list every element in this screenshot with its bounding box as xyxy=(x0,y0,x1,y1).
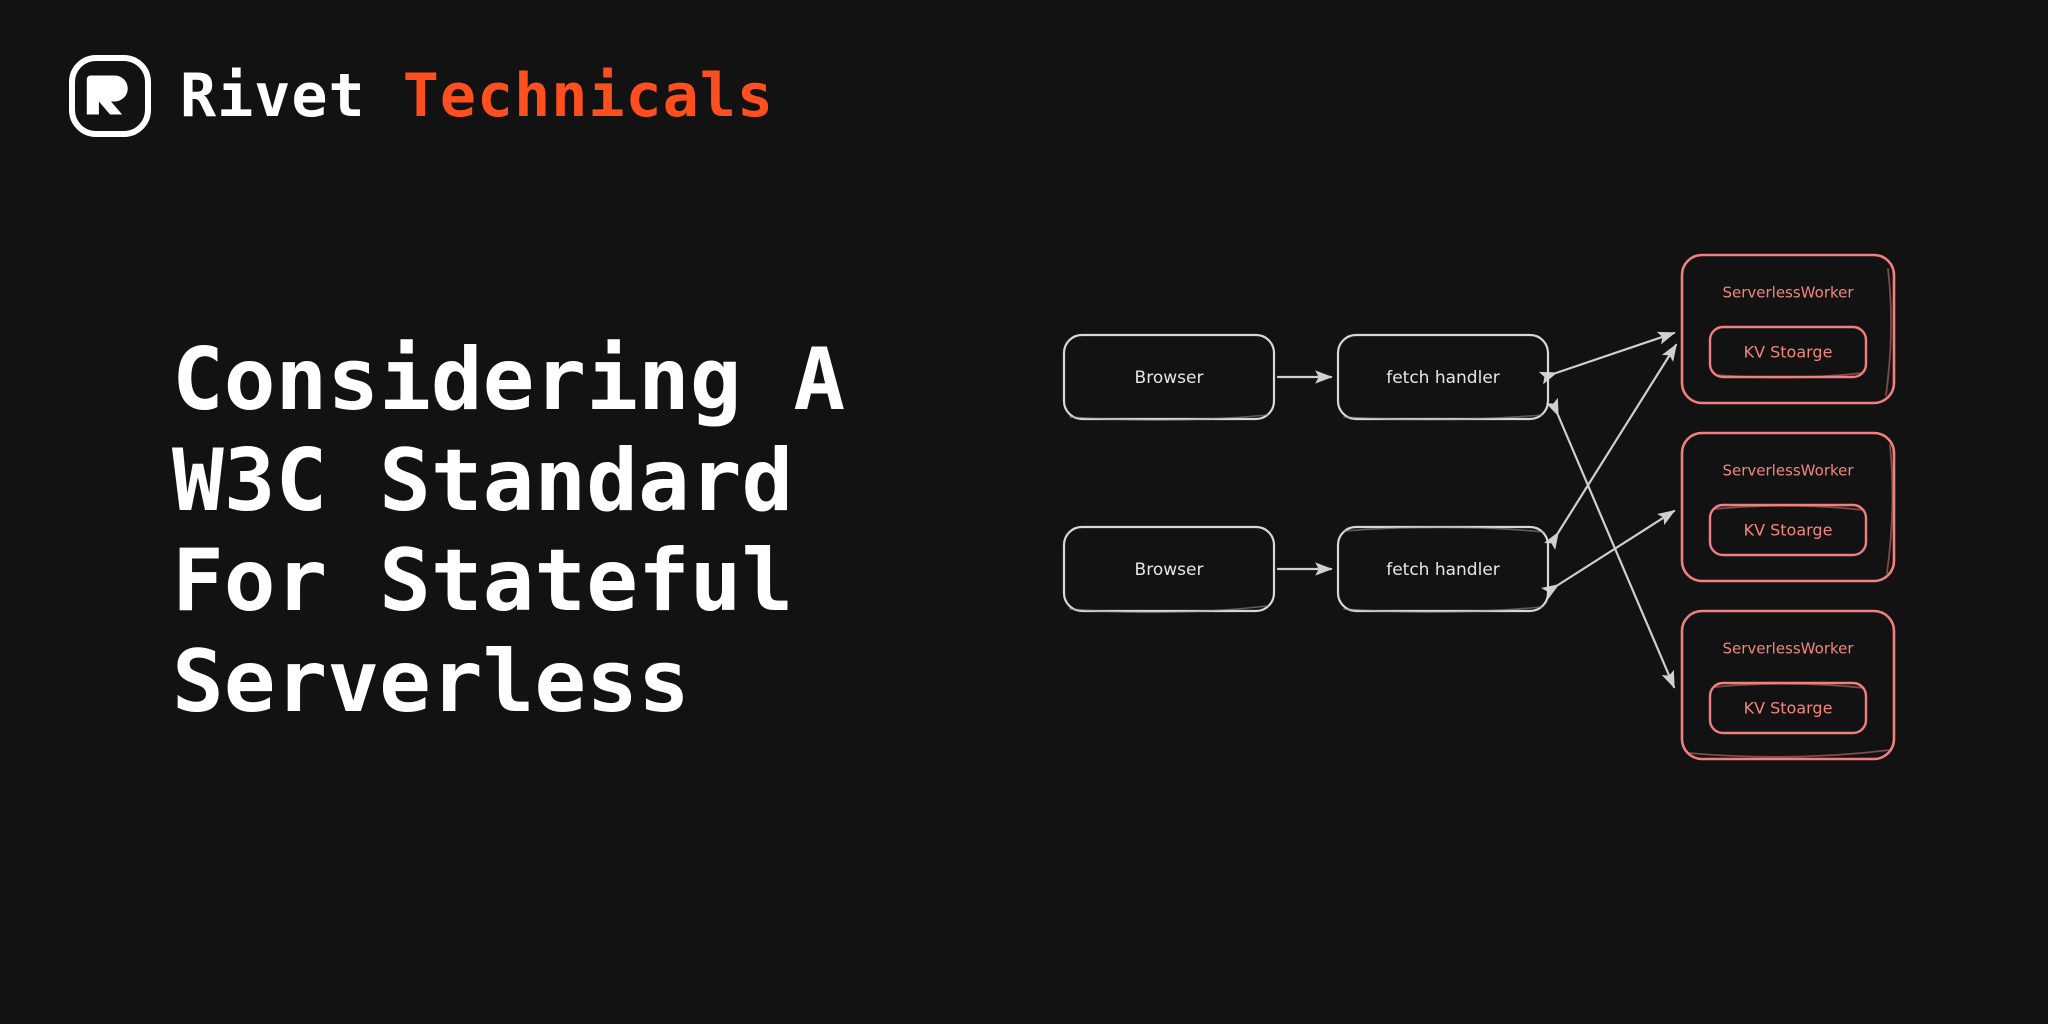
edge-fetch1-to-worker3 xyxy=(1558,415,1674,687)
brand-separator xyxy=(366,66,403,126)
node-worker-2[interactable]: ServerlessWorker KV Stoarge xyxy=(1682,433,1894,581)
node-worker-2-label: ServerlessWorker xyxy=(1722,462,1854,480)
node-fetch-handler-2[interactable]: fetch handler xyxy=(1338,527,1548,612)
node-worker-1[interactable]: ServerlessWorker KV Stoarge xyxy=(1682,255,1894,403)
node-worker-3[interactable]: ServerlessWorker KV Stoarge xyxy=(1682,611,1894,759)
node-browser-1[interactable]: Browser xyxy=(1064,335,1274,420)
headline-line-2: W3C Standard xyxy=(172,431,1092,532)
edge-fetch2-to-worker2 xyxy=(1558,511,1674,585)
brand-header: Rivet Technicals xyxy=(68,52,774,140)
node-worker-2-kv[interactable]: KV Stoarge xyxy=(1710,505,1866,555)
node-worker-3-kv-label: KV Stoarge xyxy=(1744,699,1833,718)
node-fetch-handler-1-label: fetch handler xyxy=(1386,368,1500,388)
brand-name: Rivet xyxy=(180,66,366,126)
node-browser-2-label: Browser xyxy=(1135,560,1204,580)
node-fetch-handler-1[interactable]: fetch handler xyxy=(1338,335,1548,420)
slide-canvas: Rivet Technicals Considering A W3C Stand… xyxy=(0,0,2048,1024)
headline-line-3: For Stateful xyxy=(172,531,1092,632)
node-worker-3-kv[interactable]: KV Stoarge xyxy=(1710,683,1866,733)
node-browser-1-label: Browser xyxy=(1135,368,1204,388)
node-worker-1-kv[interactable]: KV Stoarge xyxy=(1710,327,1866,378)
headline-line-1: Considering A xyxy=(172,330,1092,431)
node-worker-1-label: ServerlessWorker xyxy=(1722,284,1854,302)
rivet-r-logo-icon xyxy=(68,54,152,138)
brand-subtitle: Technicals xyxy=(403,66,774,126)
node-fetch-handler-2-label: fetch handler xyxy=(1386,560,1500,580)
brand-wordmark: Rivet Technicals xyxy=(180,66,774,126)
node-worker-2-kv-label: KV Stoarge xyxy=(1744,521,1833,540)
node-worker-1-kv-label: KV Stoarge xyxy=(1744,343,1833,362)
headline-line-4: Serverless xyxy=(172,632,1092,733)
edge-fetch1-to-worker1 xyxy=(1556,333,1674,373)
node-browser-2[interactable]: Browser xyxy=(1064,527,1274,612)
page-title: Considering A W3C Standard For Stateful … xyxy=(172,330,1092,732)
architecture-diagram: Browser Browser fetch handler fetch hand… xyxy=(1050,255,1950,775)
node-worker-3-label: ServerlessWorker xyxy=(1722,640,1854,658)
edge-fetch2-to-worker1 xyxy=(1558,345,1676,533)
